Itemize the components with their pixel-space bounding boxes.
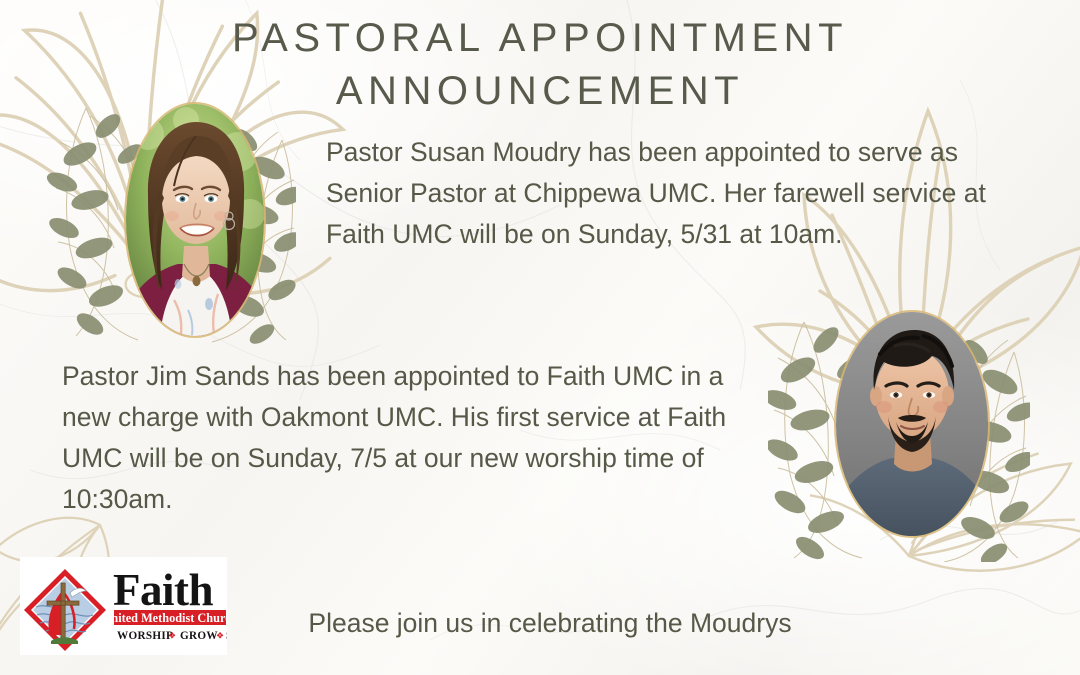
announcement-poster: PASTORAL APPOINTMENT ANNOUNCEMENT	[0, 0, 1080, 675]
logo-subtitle: United Methodist Church	[102, 611, 227, 625]
portrait-susan-moudry	[126, 104, 264, 336]
portrait-cluster-jim	[768, 300, 1030, 562]
closing-message: Please join us in celebrating the Moudry…	[230, 560, 870, 675]
portrait-cluster-susan	[46, 96, 296, 346]
faith-umc-logo[interactable]: Faith United Methodist Church WORSHIP ❖ …	[20, 557, 227, 655]
headline-line-1: PASTORAL APPOINTMENT	[232, 16, 848, 60]
logo-tagline-sep-2: ❖	[216, 631, 224, 641]
logo-tagline-serve: SERVE	[226, 630, 227, 642]
logo-tagline-grow: GROW	[180, 630, 218, 642]
announcement-text-susan: Pastor Susan Moudry has been appointed t…	[326, 132, 986, 255]
faith-umc-logo-graphic: Faith United Methodist Church WORSHIP ❖ …	[20, 557, 227, 655]
portrait-jim-sands	[836, 312, 988, 536]
closing-line-1: Please join us in celebrating the Moudry…	[308, 608, 791, 638]
logo-tagline: WORSHIP ❖ GROW ❖ SERVE	[117, 630, 227, 642]
portrait-jim-image	[836, 312, 988, 536]
logo-tagline-worship: WORSHIP	[117, 630, 173, 642]
announcement-text-jim: Pastor Jim Sands has been appointed to F…	[62, 356, 762, 520]
portrait-susan-image	[126, 104, 264, 336]
logo-wordmark: Faith	[113, 565, 213, 615]
logo-tagline-sep-1: ❖	[168, 631, 176, 641]
